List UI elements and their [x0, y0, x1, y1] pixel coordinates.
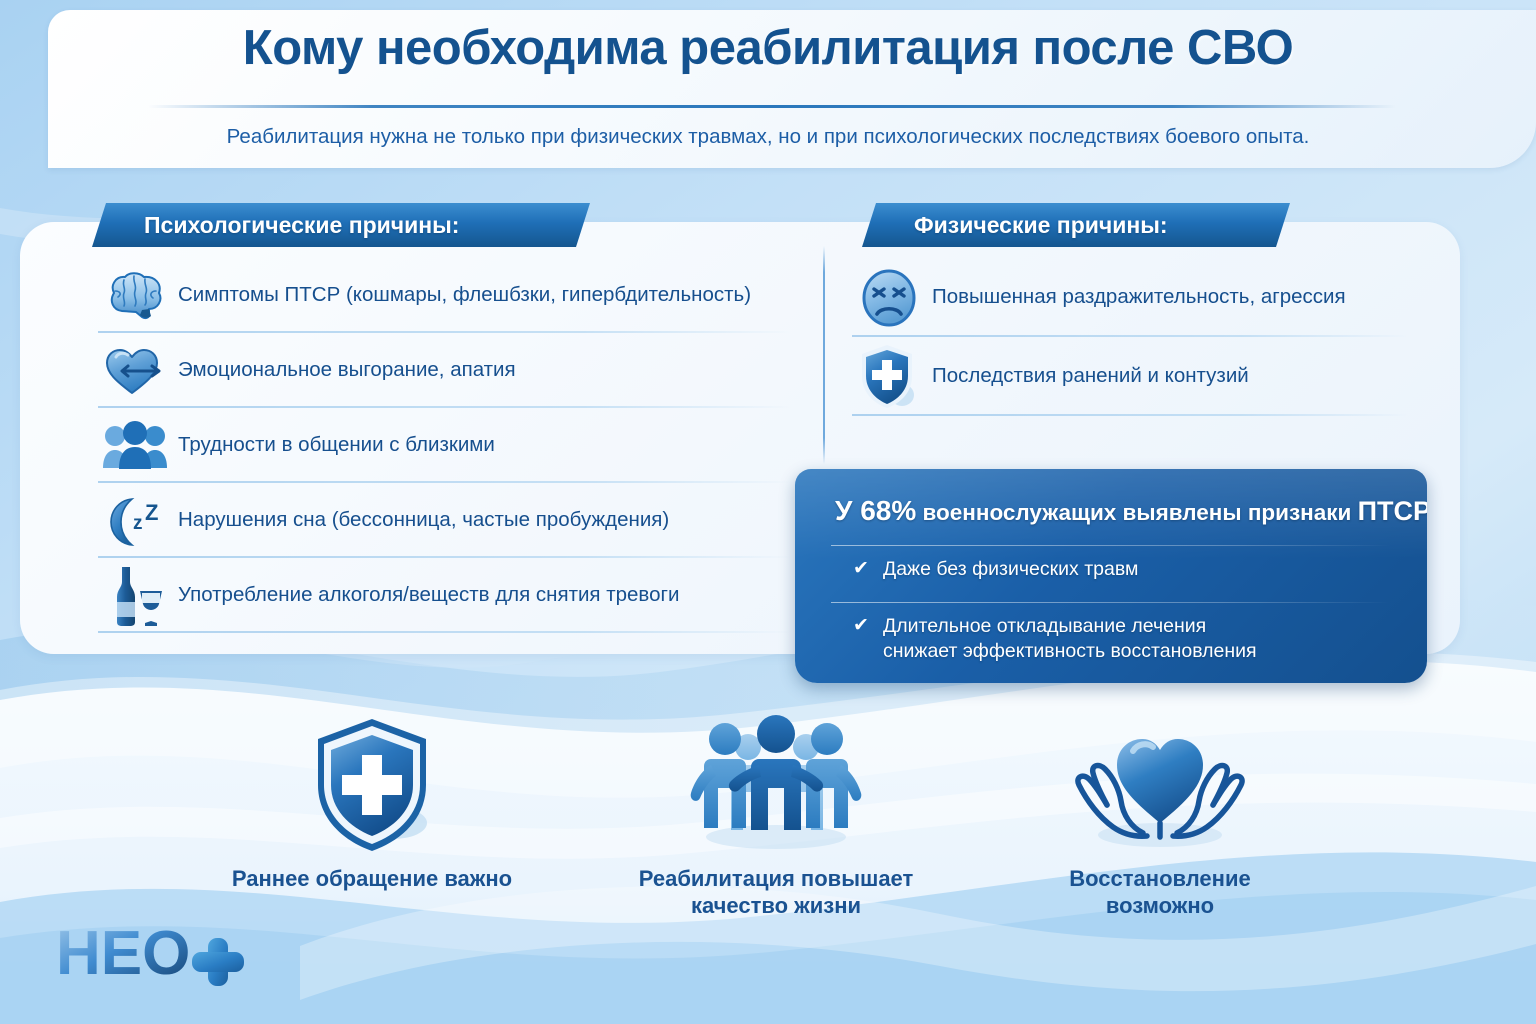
list-item: z Z Нарушения сна (бессонница, частые пр…: [92, 483, 792, 558]
statistic-card: У 68% военнослужащих выявлены признаки П…: [795, 469, 1427, 683]
list-item: Трудности в общении с близкими: [92, 408, 792, 483]
statistic-headline: У 68% военнослужащих выявлены признаки П…: [835, 495, 1399, 527]
title-divider: [148, 105, 1396, 108]
list-item: Эмоциональное выгорание, апатия: [92, 333, 792, 408]
section-header-psychological-label: Психологические причины:: [92, 212, 459, 239]
benefit-item: Реабилитация повышает качество жизни: [596, 715, 956, 920]
physical-causes-list: Повышенная раздражительность, агрессия П…: [846, 258, 1408, 416]
benefit-caption: Восстановление возможно: [980, 866, 1340, 920]
check-icon: ✔: [853, 614, 883, 638]
statistic-divider: [831, 602, 1391, 603]
statistic-middle: военнослужащих выявлены признаки: [916, 500, 1357, 525]
list-item-label: Трудности в общении с близкими: [178, 433, 495, 458]
statistic-divider: [831, 545, 1391, 546]
statistic-bullet-label: Длительное откладывание лечения снижает …: [883, 614, 1257, 664]
people-group-icon: [92, 421, 178, 471]
psychological-causes-list: Симптомы ПТСР (кошмары, флешбзки, гиперб…: [92, 258, 792, 633]
section-header-physical: Физические причины:: [862, 203, 1290, 247]
statistic-value: 68%: [860, 495, 916, 526]
list-item-label: Нарушения сна (бессонница, частые пробуж…: [178, 508, 669, 533]
benefit-caption: Раннее обращение важно: [192, 866, 552, 893]
list-item: Употребление алкоголя/веществ для снятия…: [92, 558, 792, 633]
angry-face-icon: [846, 268, 932, 328]
shield-cross-icon: [309, 715, 435, 855]
logo: НЕО НЕО+: [56, 920, 286, 995]
list-item-label: Последствия ранений и контузий: [932, 364, 1249, 389]
statistic-bullet-label: Даже без физических травм: [883, 557, 1138, 582]
brain-icon: [92, 271, 178, 321]
benefit-item: Раннее обращение важно: [192, 715, 552, 893]
statistic-bullet: ✔ Длительное откладывание лечения снижае…: [853, 614, 1257, 664]
check-icon: ✔: [853, 557, 883, 581]
svg-text:Z: Z: [145, 500, 158, 525]
section-header-psychological: Психологические причины:: [92, 203, 590, 247]
list-item: Повышенная раздражительность, агрессия: [846, 258, 1408, 337]
list-item: Последствия ранений и контузий: [846, 337, 1408, 416]
statistic-suffix: ПТСР: [1358, 496, 1427, 526]
bottle-glass-icon: [92, 564, 178, 628]
section-header-physical-label: Физические причины:: [862, 212, 1168, 239]
page-subtitle: Реабилитация нужна не только при физичес…: [0, 125, 1536, 149]
list-item-label: Повышенная раздражительность, агрессия: [932, 285, 1346, 310]
list-item-label: Симптомы ПТСР (кошмары, флешбзки, гиперб…: [178, 283, 751, 308]
logo-text: НЕО: [56, 920, 190, 988]
people-support-icon: [681, 715, 871, 855]
svg-text:z: z: [133, 513, 143, 534]
list-item-label: Эмоциональное выгорание, апатия: [178, 358, 516, 383]
statistic-bullet: ✔ Даже без физических травм: [853, 557, 1138, 582]
column-divider: [823, 246, 825, 464]
hands-heart-icon: [1065, 715, 1255, 855]
list-item: Симптомы ПТСР (кошмары, флешбзки, гиперб…: [92, 258, 792, 333]
list-item-label: Употребление алкоголя/веществ для снятия…: [178, 583, 679, 608]
shield-cross-icon: [846, 343, 932, 411]
heart-burnout-icon: [92, 345, 178, 397]
page-title: Кому необходима реабилитация после СВО: [0, 20, 1536, 76]
benefit-caption: Реабилитация повышает качество жизни: [596, 866, 956, 920]
benefit-item: Восстановление возможно: [980, 715, 1340, 920]
statistic-prefix: У: [835, 495, 860, 526]
moon-sleep-icon: z Z: [92, 494, 178, 548]
